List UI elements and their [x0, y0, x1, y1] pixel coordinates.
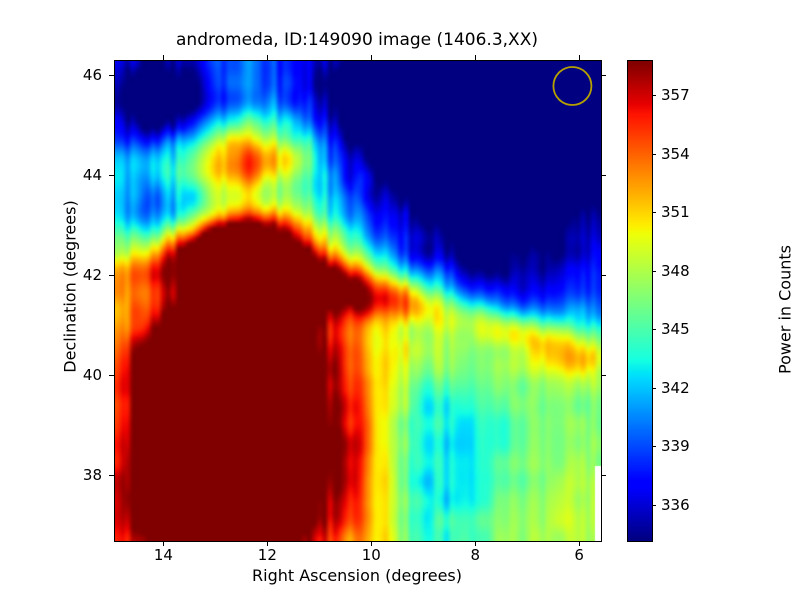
x-tick-mark-top	[267, 55, 268, 60]
x-tick-label: 10	[362, 546, 381, 564]
colorbar-tick-mark	[652, 446, 656, 447]
colorbar-tick-label: 351	[661, 203, 690, 221]
colorbar-tick-label: 339	[661, 437, 690, 455]
x-tick-mark-top	[475, 55, 476, 60]
colorbar-tick-label: 348	[661, 262, 690, 280]
y-tick-mark	[109, 275, 114, 276]
colorbar-tick-mark	[652, 388, 656, 389]
y-tick-mark-right	[601, 175, 606, 176]
y-tick-mark-right	[601, 375, 606, 376]
colorbar-tick-label: 354	[661, 145, 690, 163]
colorbar-tick-mark	[652, 95, 656, 96]
y-tick-mark	[109, 175, 114, 176]
colorbar[interactable]	[627, 60, 653, 542]
colorbar-tick-label: 342	[661, 379, 690, 397]
y-tick-mark-right	[601, 475, 606, 476]
colorbar-tick-label: 357	[661, 86, 690, 104]
y-tick-mark	[109, 475, 114, 476]
colorbar-tick-mark	[652, 271, 656, 272]
y-tick-mark-right	[601, 275, 606, 276]
y-axis-label: Declination (degrees)	[61, 47, 80, 527]
colorbar-tick-mark	[652, 212, 656, 213]
heatmap-axes[interactable]	[114, 60, 602, 542]
colorbar-tick-label: 345	[661, 320, 690, 338]
y-tick-mark	[109, 75, 114, 76]
colorbar-tick-mark	[652, 505, 656, 506]
x-axis-label: Right Ascension (degrees)	[114, 566, 600, 585]
x-tick-label: 8	[470, 546, 480, 564]
x-tick-label: 6	[574, 546, 584, 564]
colorbar-gradient	[628, 61, 652, 541]
page-title: andromeda, ID:149090 image (1406.3,XX)	[114, 30, 600, 50]
colorbar-tick-mark	[652, 329, 656, 330]
y-tick-mark-right	[601, 75, 606, 76]
colorbar-tick-label: 336	[661, 496, 690, 514]
colorbar-tick-mark	[652, 154, 656, 155]
x-tick-mark-top	[579, 55, 580, 60]
colorbar-label: Power in Counts	[776, 70, 795, 550]
x-tick-mark-top	[371, 55, 372, 60]
x-tick-mark-top	[163, 55, 164, 60]
heatmap-image[interactable]	[115, 61, 601, 541]
figure-canvas: andromeda, ID:149090 image (1406.3,XX) 1…	[0, 0, 800, 600]
x-tick-label: 12	[258, 546, 277, 564]
y-tick-mark	[109, 375, 114, 376]
x-tick-label: 14	[154, 546, 173, 564]
